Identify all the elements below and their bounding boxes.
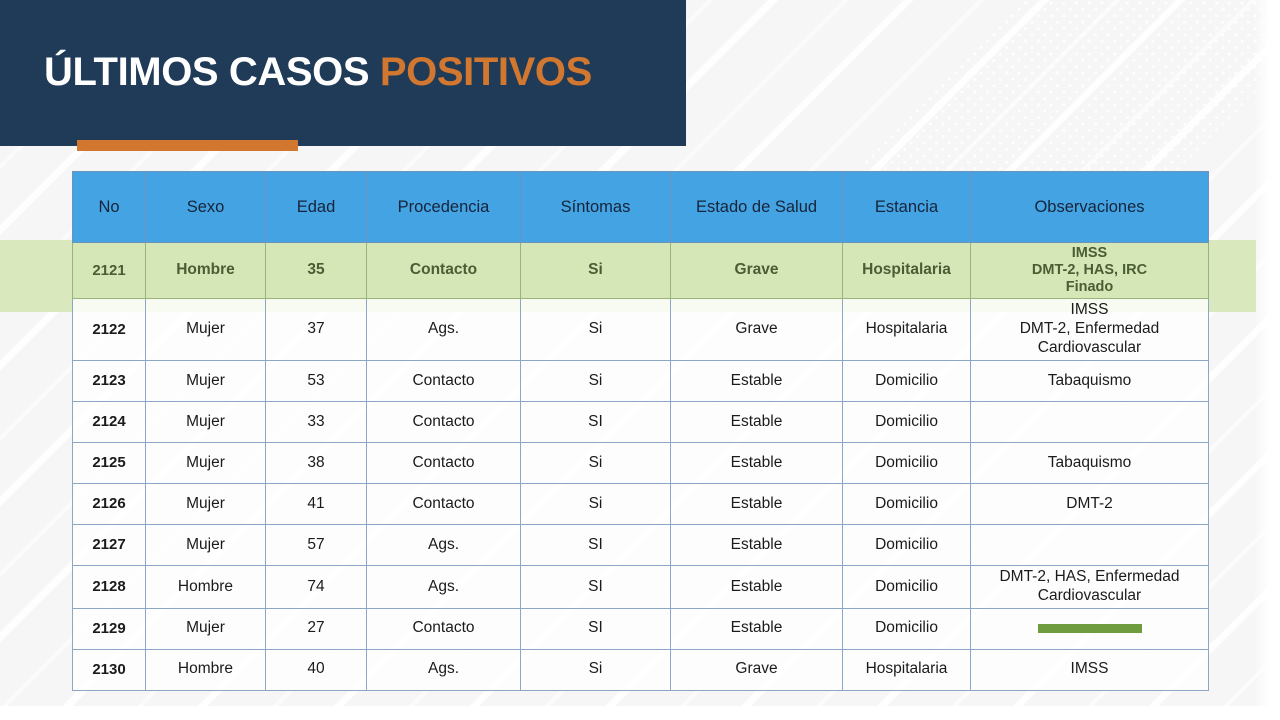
observacion-line: IMSS (975, 660, 1204, 679)
column-header-observaciones[interactable]: Observaciones (971, 172, 1209, 243)
table-row[interactable]: 2125Mujer38ContactoSiEstableDomicilioTab… (73, 443, 1209, 484)
background-bottom-strip (0, 706, 1280, 720)
observacion-line: Finado (975, 279, 1204, 296)
cell-sintomas: Si (521, 484, 671, 525)
cell-observaciones (971, 402, 1209, 443)
page-title-accent: POSITIVOS (380, 50, 592, 94)
cell-sintomas: Si (521, 243, 671, 299)
cell-estado-salud: Estable (671, 402, 843, 443)
cell-procedencia: Contacto (367, 402, 521, 443)
cell-sexo: Mujer (146, 484, 266, 525)
cell-procedencia: Contacto (367, 361, 521, 402)
observacion-line: DMT-2 (975, 495, 1204, 514)
cell-case-number: 2124 (73, 402, 146, 443)
cell-estancia: Hospitalaria (843, 299, 971, 361)
cell-case-number: 2123 (73, 361, 146, 402)
cell-edad: 41 (266, 484, 367, 525)
cell-case-number: 2121 (73, 243, 146, 299)
cell-sexo: Hombre (146, 566, 266, 609)
cell-observaciones: Tabaquismo (971, 443, 1209, 484)
observacion-line: Tabaquismo (975, 372, 1204, 391)
cell-sexo: Mujer (146, 525, 266, 566)
cell-sintomas: SI (521, 566, 671, 609)
cell-sintomas: Si (521, 299, 671, 361)
cell-edad: 40 (266, 649, 367, 690)
cell-estado-salud: Estable (671, 566, 843, 609)
cell-sexo: Hombre (146, 243, 266, 299)
cell-observaciones: DMT-2 (971, 484, 1209, 525)
cell-estado-salud: Estable (671, 361, 843, 402)
cell-sintomas: SI (521, 402, 671, 443)
cell-estado-salud: Estable (671, 525, 843, 566)
cell-case-number: 2128 (73, 566, 146, 609)
slide-canvas: ÚLTIMOS CASOS POSITIVOS NoSexoEdadProced… (0, 0, 1280, 720)
cell-edad: 38 (266, 443, 367, 484)
observacion-line: IMSS (975, 301, 1204, 320)
cell-observaciones: IMSSDMT-2, HAS, IRCFinado (971, 243, 1209, 299)
cell-sintomas: SI (521, 608, 671, 649)
cell-observaciones: IMSS (971, 649, 1209, 690)
cell-procedencia: Ags. (367, 525, 521, 566)
column-header-sexo[interactable]: Sexo (146, 172, 266, 243)
cell-estancia: Hospitalaria (843, 243, 971, 299)
table-row[interactable]: 2123Mujer53ContactoSiEstableDomicilioTab… (73, 361, 1209, 402)
table-row[interactable]: 2128Hombre74Ags.SIEstableDomicilioDMT-2,… (73, 566, 1209, 609)
cell-estancia: Domicilio (843, 608, 971, 649)
observacion-line: Tabaquismo (975, 454, 1204, 473)
column-header-estado-de-salud[interactable]: Estado de Salud (671, 172, 843, 243)
title-accent-underline (77, 140, 298, 151)
column-header-s-ntomas[interactable]: Síntomas (521, 172, 671, 243)
cell-sintomas: Si (521, 443, 671, 484)
page-title-main: ÚLTIMOS CASOS (44, 50, 369, 94)
cell-edad: 57 (266, 525, 367, 566)
cell-estancia: Domicilio (843, 525, 971, 566)
cell-observaciones (971, 525, 1209, 566)
table-row[interactable]: 2129Mujer27ContactoSIEstableDomicilio (73, 608, 1209, 649)
cell-edad: 37 (266, 299, 367, 361)
cell-observaciones: Tabaquismo (971, 361, 1209, 402)
table-header-row: NoSexoEdadProcedenciaSíntomasEstado de S… (73, 172, 1209, 243)
cell-edad: 53 (266, 361, 367, 402)
cell-case-number: 2129 (73, 608, 146, 649)
cell-estancia: Domicilio (843, 484, 971, 525)
cell-estado-salud: Grave (671, 649, 843, 690)
cell-edad: 74 (266, 566, 367, 609)
observacion-line: Cardiovascular (975, 587, 1204, 606)
table-row[interactable]: 2124Mujer33ContactoSIEstableDomicilio (73, 402, 1209, 443)
title-banner: ÚLTIMOS CASOS POSITIVOS (0, 0, 686, 146)
cell-case-number: 2130 (73, 649, 146, 690)
cases-table-container: NoSexoEdadProcedenciaSíntomasEstado de S… (72, 171, 1208, 691)
cell-sexo: Mujer (146, 402, 266, 443)
cell-estancia: Hospitalaria (843, 649, 971, 690)
cell-edad: 33 (266, 402, 367, 443)
cell-procedencia: Contacto (367, 443, 521, 484)
cell-estado-salud: Grave (671, 243, 843, 299)
cell-observaciones: DMT-2, HAS, EnfermedadCardiovascular (971, 566, 1209, 609)
cases-table-head: NoSexoEdadProcedenciaSíntomasEstado de S… (73, 172, 1209, 243)
cell-estancia: Domicilio (843, 361, 971, 402)
background-right-fade (1254, 0, 1280, 720)
observacion-line: Cardiovascular (975, 339, 1204, 358)
cell-sexo: Mujer (146, 608, 266, 649)
cell-case-number: 2127 (73, 525, 146, 566)
observacion-line: IMSS (975, 245, 1204, 262)
cell-procedencia: Contacto (367, 484, 521, 525)
cell-procedencia: Ags. (367, 649, 521, 690)
cell-procedencia: Contacto (367, 608, 521, 649)
cell-estancia: Domicilio (843, 566, 971, 609)
cell-sintomas: Si (521, 649, 671, 690)
cell-case-number: 2122 (73, 299, 146, 361)
cell-observaciones (971, 608, 1209, 649)
observacion-line: DMT-2, HAS, IRC (975, 262, 1204, 279)
cases-table-body: 2121Hombre35ContactoSiGraveHospitalariaI… (73, 243, 1209, 691)
cell-sexo: Mujer (146, 443, 266, 484)
observacion-line: DMT-2, Enfermedad (975, 320, 1204, 339)
cell-estancia: Domicilio (843, 402, 971, 443)
cell-estado-salud: Estable (671, 484, 843, 525)
cell-sexo: Hombre (146, 649, 266, 690)
cell-estancia: Domicilio (843, 443, 971, 484)
table-row[interactable]: 2126Mujer41ContactoSiEstableDomicilioDMT… (73, 484, 1209, 525)
cell-procedencia: Ags. (367, 566, 521, 609)
cell-procedencia: Contacto (367, 243, 521, 299)
cell-edad: 27 (266, 608, 367, 649)
column-header-edad[interactable]: Edad (266, 172, 367, 243)
cell-sexo: Mujer (146, 299, 266, 361)
cell-estado-salud: Estable (671, 608, 843, 649)
table-row[interactable]: 2121Hombre35ContactoSiGraveHospitalariaI… (73, 243, 1209, 299)
cell-case-number: 2125 (73, 443, 146, 484)
redaction-bar (1038, 624, 1142, 633)
column-header-no[interactable]: No (73, 172, 146, 243)
cell-procedencia: Ags. (367, 299, 521, 361)
cell-observaciones: IMSSDMT-2, EnfermedadCardiovascular (971, 299, 1209, 361)
cases-table: NoSexoEdadProcedenciaSíntomasEstado de S… (72, 171, 1209, 691)
table-row[interactable]: 2127Mujer57Ags.SIEstableDomicilio (73, 525, 1209, 566)
column-header-estancia[interactable]: Estancia (843, 172, 971, 243)
cell-edad: 35 (266, 243, 367, 299)
table-row[interactable]: 2130Hombre40Ags.SiGraveHospitalariaIMSS (73, 649, 1209, 690)
page-title: ÚLTIMOS CASOS POSITIVOS (44, 52, 592, 92)
cell-estado-salud: Grave (671, 299, 843, 361)
table-row[interactable]: 2122Mujer37Ags.SiGraveHospitalariaIMSSDM… (73, 299, 1209, 361)
column-header-procedencia[interactable]: Procedencia (367, 172, 521, 243)
cell-case-number: 2126 (73, 484, 146, 525)
cell-estado-salud: Estable (671, 443, 843, 484)
cell-sintomas: Si (521, 361, 671, 402)
observacion-line: DMT-2, HAS, Enfermedad (975, 568, 1204, 587)
cell-sexo: Mujer (146, 361, 266, 402)
cell-sintomas: SI (521, 525, 671, 566)
